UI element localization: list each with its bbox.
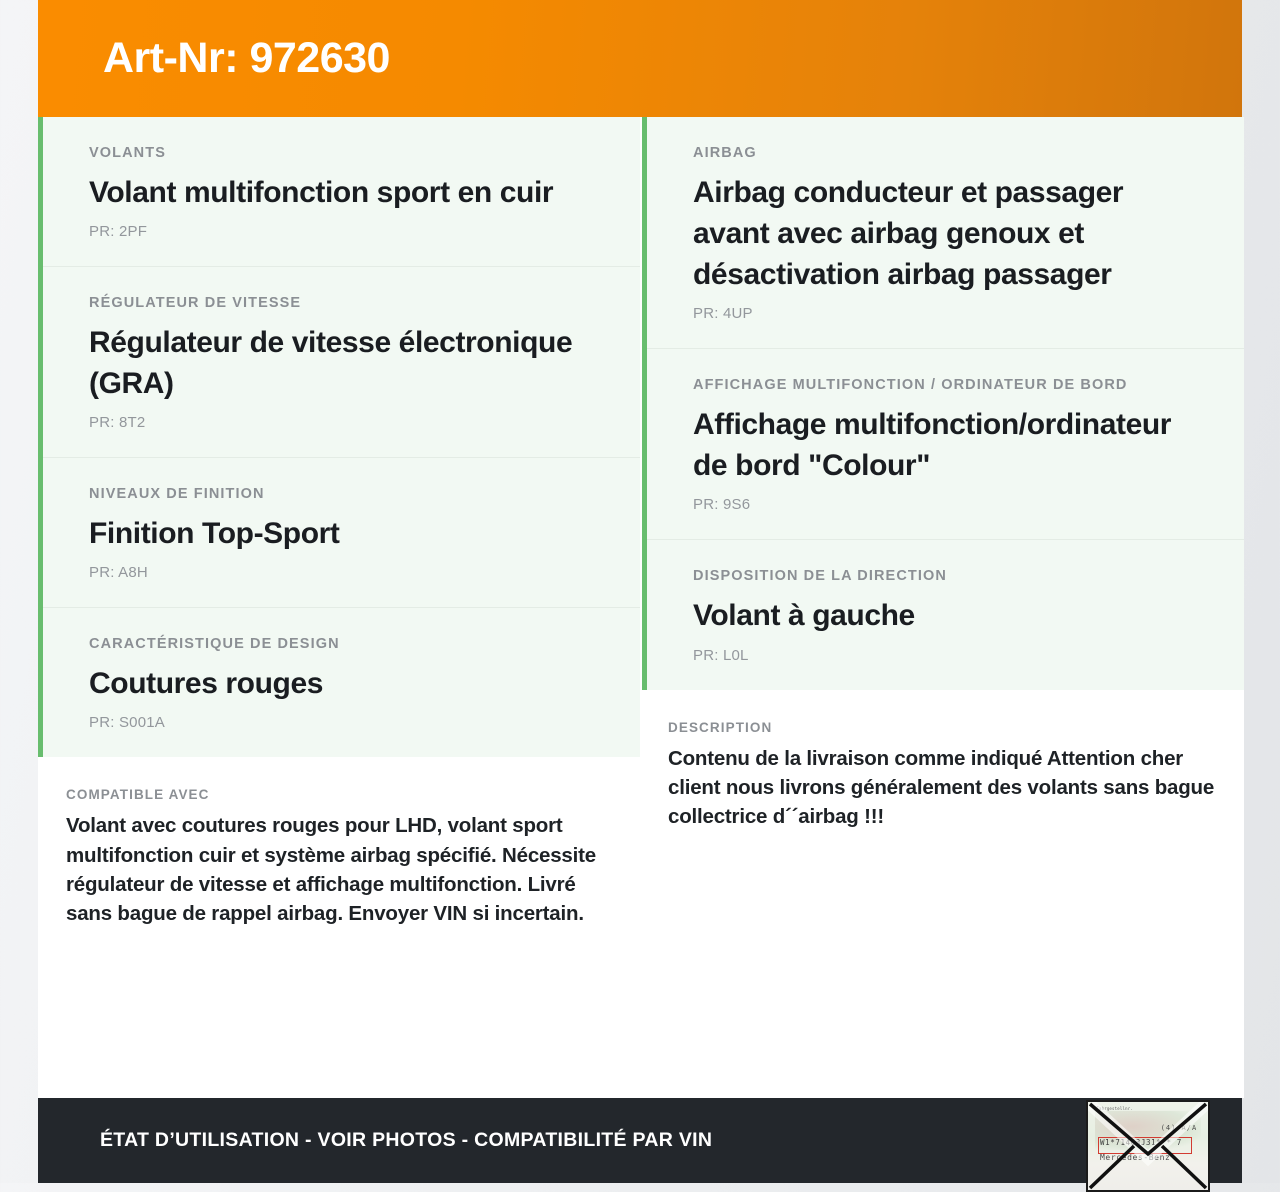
spec-card-regulateur-de-vitesse[interactable]: RÉGULATEUR DE VITESSE Régulateur de vite… bbox=[43, 267, 640, 458]
footer-note: ÉTAT D’UTILISATION - VOIR PHOTOS - COMPA… bbox=[100, 1129, 712, 1152]
spec-value: Coutures rouges bbox=[89, 663, 594, 704]
spec-pr-code: PR: S001A bbox=[89, 714, 594, 731]
spec-card-affichage-multifonction[interactable]: AFFICHAGE MULTIFONCTION / ORDINATEUR DE … bbox=[647, 349, 1244, 540]
spec-pr-code: PR: 8T2 bbox=[89, 414, 594, 431]
spec-card-airbag[interactable]: AIRBAG Airbag conducteur et passager ava… bbox=[647, 117, 1244, 349]
spec-value: Finition Top-Sport bbox=[89, 513, 594, 554]
left-column-filler bbox=[38, 948, 640, 1098]
spec-value: Volant à gauche bbox=[693, 595, 1198, 636]
page-title: Art-Nr: 972630 bbox=[103, 37, 390, 80]
description-text: Contenu de la livraison comme indiqué At… bbox=[668, 744, 1216, 831]
description-label: DESCRIPTION bbox=[668, 720, 1216, 735]
spec-pr-code: PR: 9S6 bbox=[693, 496, 1198, 513]
spec-pr-code: PR: L0L bbox=[693, 647, 1198, 664]
compatible-avec-text: Volant avec coutures rouges pour LHD, vo… bbox=[66, 811, 612, 927]
right-column: AIRBAG Airbag conducteur et passager ava… bbox=[642, 117, 1244, 1098]
description-block: DESCRIPTION Contenu de la livraison comm… bbox=[642, 690, 1244, 851]
right-spec-group: AIRBAG Airbag conducteur et passager ava… bbox=[642, 117, 1244, 690]
spec-label: DISPOSITION DE LA DIRECTION bbox=[693, 568, 1198, 584]
spec-card-volants[interactable]: VOLANTS Volant multifonction sport en cu… bbox=[43, 117, 640, 267]
spec-label: RÉGULATEUR DE VITESSE bbox=[89, 295, 594, 311]
spec-pr-code: PR: 2PF bbox=[89, 223, 594, 240]
compatible-avec-block: COMPATIBLE AVEC Volant avec coutures rou… bbox=[38, 757, 640, 947]
spec-label: NIVEAUX DE FINITION bbox=[89, 486, 594, 502]
left-spec-group: VOLANTS Volant multifonction sport en cu… bbox=[38, 117, 640, 757]
spec-label: VOLANTS bbox=[89, 145, 594, 161]
spec-label: AFFICHAGE MULTIFONCTION / ORDINATEUR DE … bbox=[693, 377, 1198, 393]
compatible-avec-label: COMPATIBLE AVEC bbox=[66, 787, 612, 802]
spec-card-caracteristique-de-design[interactable]: CARACTÉRISTIQUE DE DESIGN Coutures rouge… bbox=[43, 608, 640, 757]
spec-value: Régulateur de vitesse électronique (GRA) bbox=[89, 322, 594, 404]
spec-label: CARACTÉRISTIQUE DE DESIGN bbox=[89, 636, 594, 652]
listing-sheet: Art-Nr: 972630 VOLANTS Volant multifonct… bbox=[38, 0, 1242, 1183]
spec-value: Affichage multifonction/ordinateur de bo… bbox=[693, 404, 1198, 486]
spec-pr-code: PR: A8H bbox=[89, 564, 594, 581]
spec-card-disposition-de-la-direction[interactable]: DISPOSITION DE LA DIRECTION Volant à gau… bbox=[647, 540, 1244, 689]
envelope-icon bbox=[1088, 1102, 1208, 1190]
right-column-filler bbox=[642, 851, 1244, 1098]
spec-pr-code: PR: 4UP bbox=[693, 305, 1198, 322]
spec-value: Airbag conducteur et passager avant avec… bbox=[693, 172, 1198, 295]
spec-value: Volant multifonction sport en cuir bbox=[89, 172, 594, 213]
spec-columns: VOLANTS Volant multifonction sport en cu… bbox=[38, 117, 1242, 1098]
spec-label: AIRBAG bbox=[693, 145, 1198, 161]
footer-banner: ÉTAT D’UTILISATION - VOIR PHOTOS - COMPA… bbox=[38, 1098, 1242, 1183]
spec-card-niveaux-de-finition[interactable]: NIVEAUX DE FINITION Finition Top-Sport P… bbox=[43, 458, 640, 608]
header-banner: Art-Nr: 972630 bbox=[38, 0, 1242, 117]
vin-document-thumbnail[interactable]: Fahrgestellnr. (4) A/A W1*71463J31*** 7 … bbox=[1086, 1100, 1210, 1192]
left-column: VOLANTS Volant multifonction sport en cu… bbox=[38, 117, 642, 1098]
